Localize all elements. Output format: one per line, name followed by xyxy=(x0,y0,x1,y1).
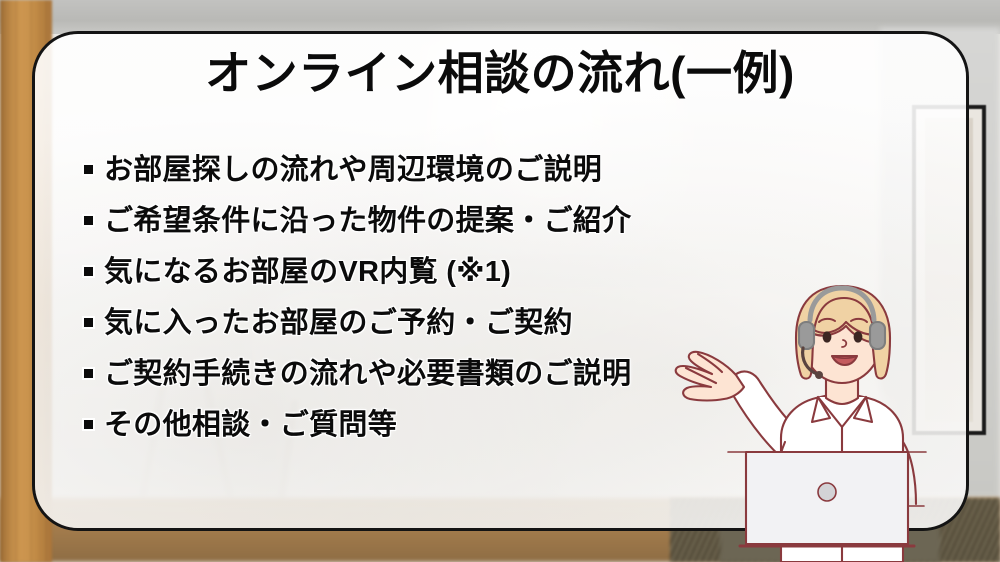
bullet-list-item-label: 気に入ったお部屋のご予約・ご契約 xyxy=(104,308,573,340)
bullet-list-item: 気に入ったお部屋のご予約・ご契約 xyxy=(84,308,704,356)
bullet-list-item-label: 気になるお部屋のVR内覧 (※1) xyxy=(104,257,511,289)
bullet-list-item: 気になるお部屋のVR内覧 (※1) xyxy=(84,257,704,305)
bullet-list-item-label: お部屋探しの流れや周辺環境のご説明 xyxy=(104,155,602,187)
bullet-list-item: その他相談・ご質問等 xyxy=(84,410,704,458)
bullet-list: お部屋探しの流れや周辺環境のご説明 ご希望条件に沿った物件の提案・ご紹介 気にな… xyxy=(84,155,704,461)
bullet-list-item: お部屋探しの流れや周辺環境のご説明 xyxy=(84,155,704,203)
square-bullet-icon xyxy=(84,267,93,276)
slide-root: オンライン相談の流れ(一例) お部屋探しの流れや周辺環境のご説明 ご希望条件に沿… xyxy=(0,0,1000,562)
square-bullet-icon xyxy=(84,318,93,327)
bullet-list-item: ご希望条件に沿った物件の提案・ご紹介 xyxy=(84,206,704,254)
square-bullet-icon xyxy=(84,216,93,225)
background-ceiling xyxy=(0,0,1000,34)
bullet-list-item-label: その他相談・ご質問等 xyxy=(104,410,397,442)
bullet-list-item: ご契約手続きの流れや必要書類のご説明 xyxy=(84,359,704,407)
slide-title: オンライン相談の流れ(一例) xyxy=(0,48,1000,99)
bullet-list-item-label: ご希望条件に沿った物件の提案・ご紹介 xyxy=(104,206,631,238)
square-bullet-icon xyxy=(84,165,93,174)
square-bullet-icon xyxy=(84,420,93,429)
bullet-list-item-label: ご契約手続きの流れや必要書類のご説明 xyxy=(104,359,631,391)
square-bullet-icon xyxy=(84,369,93,378)
